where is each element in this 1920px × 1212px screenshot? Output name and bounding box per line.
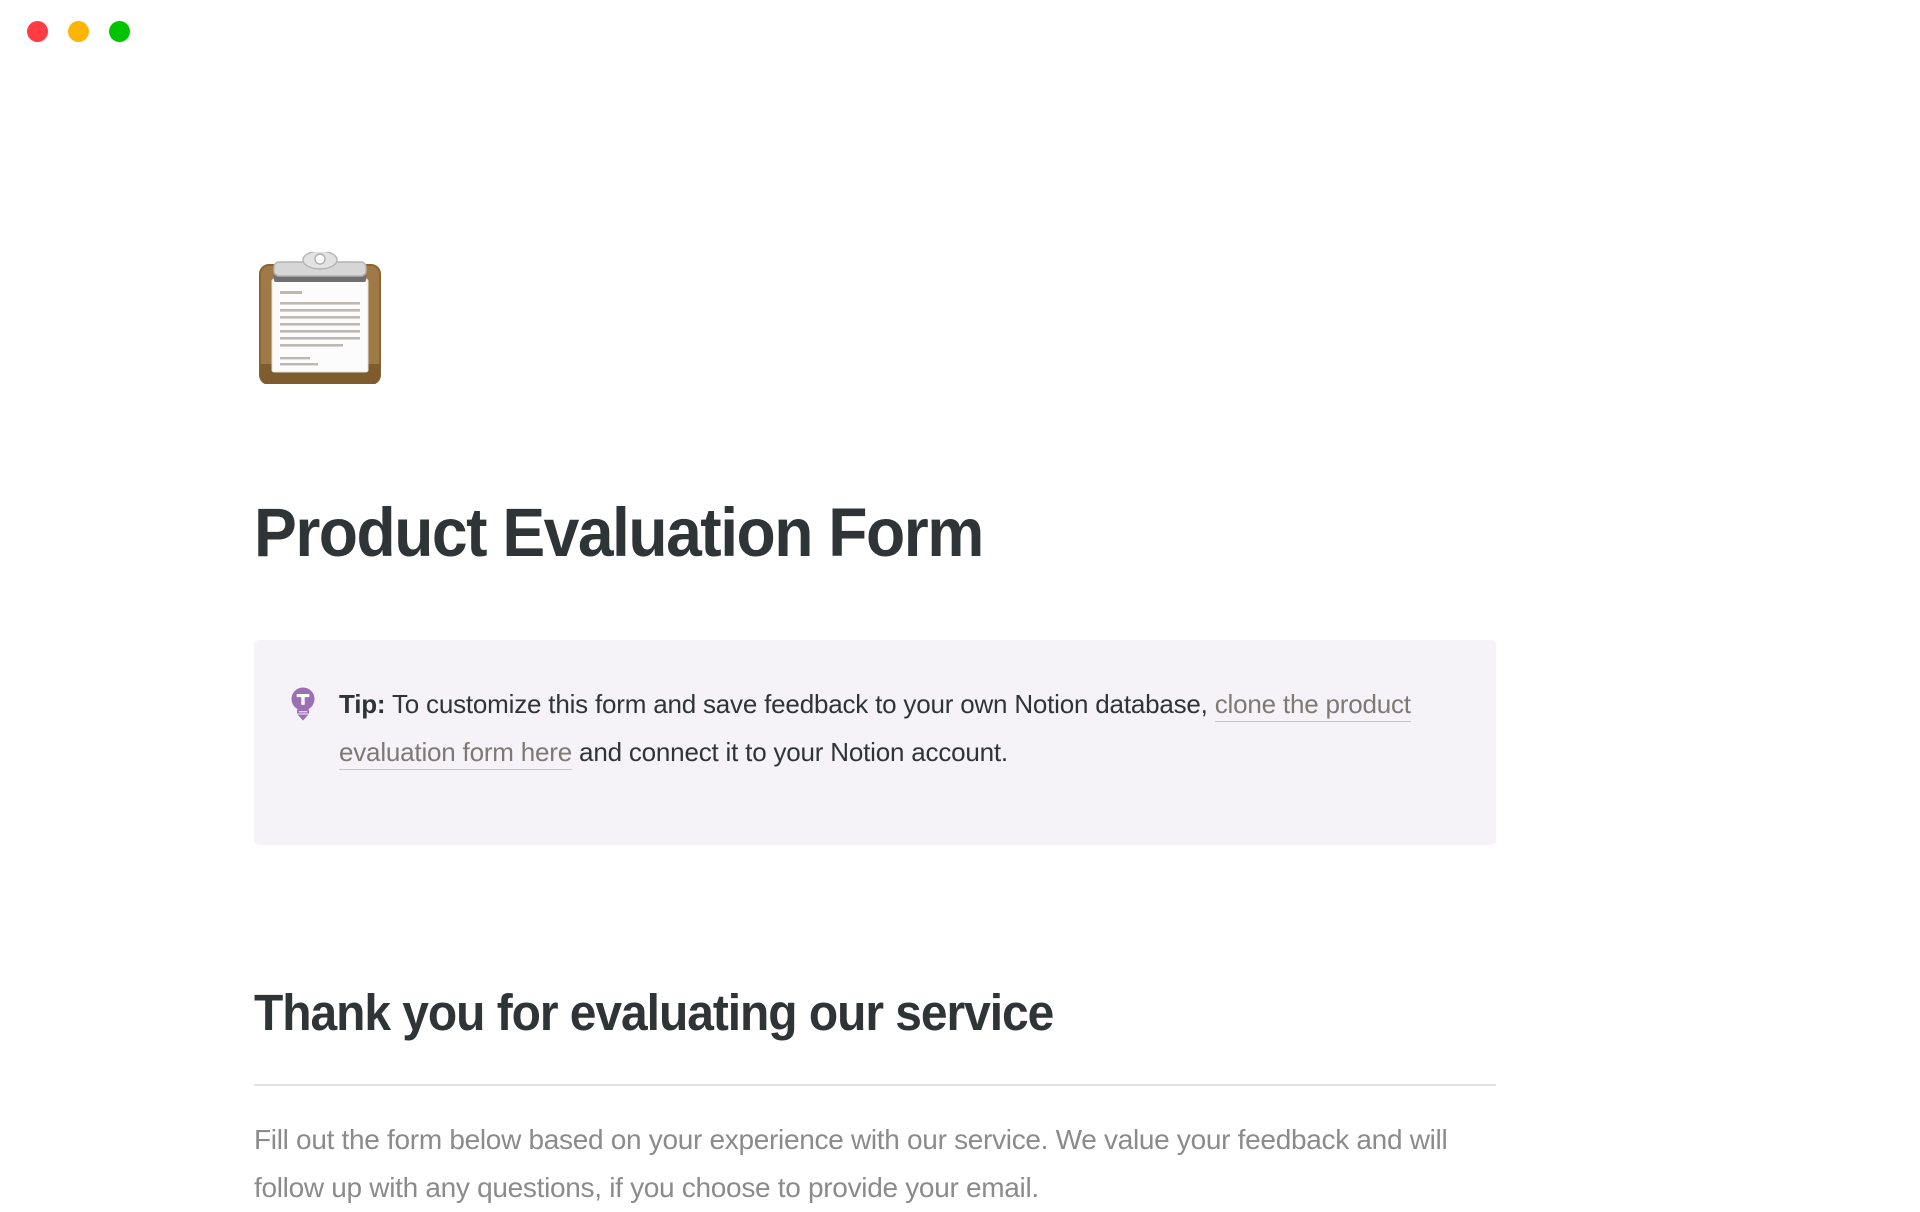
section-divider — [254, 1084, 1496, 1086]
window-title-bar — [0, 0, 1920, 62]
section-heading: Thank you for evaluating our service — [254, 982, 1053, 1044]
tip-text-after-link: and connect it to your Notion account. — [572, 737, 1008, 767]
page-title: Product Evaluation Form — [254, 492, 983, 574]
tip-callout-text: Tip: To customize this form and save fee… — [339, 680, 1462, 776]
close-window-button[interactable] — [27, 21, 48, 42]
maximize-window-button[interactable] — [109, 21, 130, 42]
lightbulb-icon — [288, 686, 318, 722]
page-body: Product Evaluation Form Tip: To customiz… — [0, 62, 1920, 1200]
intro-paragraph: Fill out the form below based on your ex… — [254, 1116, 1454, 1212]
tip-callout: Tip: To customize this form and save fee… — [254, 640, 1496, 845]
traffic-light-group — [27, 21, 130, 42]
tip-label: Tip: — [339, 689, 385, 719]
clipboard-emoji-icon[interactable] — [254, 252, 386, 384]
tip-text-before-link: To customize this form and save feedback… — [385, 689, 1214, 719]
minimize-window-button[interactable] — [68, 21, 89, 42]
